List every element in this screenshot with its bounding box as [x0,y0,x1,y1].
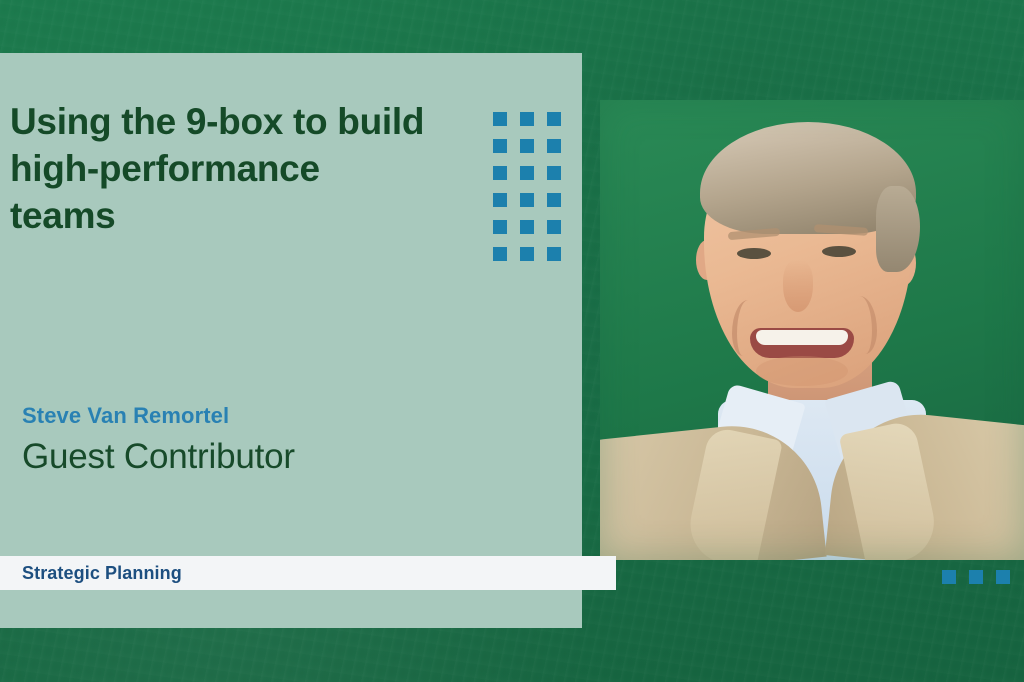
grid-dot [493,247,507,261]
portrait-nose [783,260,813,312]
portrait-eye-left [737,248,771,259]
title-line-2: high-performance [10,148,320,189]
grid-dot [547,112,561,126]
speaker-portrait [600,100,1024,560]
speaker-name: Steve Van Remortel [22,402,542,430]
grid-dot [493,193,507,207]
promo-slide: Using the 9-box to build high-performanc… [0,0,1024,682]
grid-dot [520,193,534,207]
portrait-eye-right [822,246,856,257]
byline: Steve Van Remortel Guest Contributor [22,402,542,480]
grid-dot [520,220,534,234]
portrait-teeth [756,330,848,345]
portrait-chin [756,356,848,386]
title-line-3: teams [10,195,115,236]
corner-dot [969,570,983,584]
grid-dot [547,166,561,180]
grid-dot [547,139,561,153]
category-label: Strategic Planning [22,561,182,585]
title-line-1: Using the 9-box to build [10,101,424,142]
grid-dot [520,166,534,180]
grid-dot [520,139,534,153]
grid-dot [547,193,561,207]
grid-dot [493,220,507,234]
grid-dot [493,139,507,153]
corner-dot [942,570,956,584]
grid-dot [547,247,561,261]
grid-dot [493,166,507,180]
grid-dot [520,247,534,261]
page-title: Using the 9-box to build high-performanc… [10,98,510,239]
square-dot-grid-icon [493,112,561,261]
square-dot-row-icon [942,570,1010,584]
corner-dot [996,570,1010,584]
speaker-role: Guest Contributor [22,434,542,480]
portrait-mouth [750,328,854,358]
grid-dot [493,112,507,126]
grid-dot [547,220,561,234]
grid-dot [520,112,534,126]
